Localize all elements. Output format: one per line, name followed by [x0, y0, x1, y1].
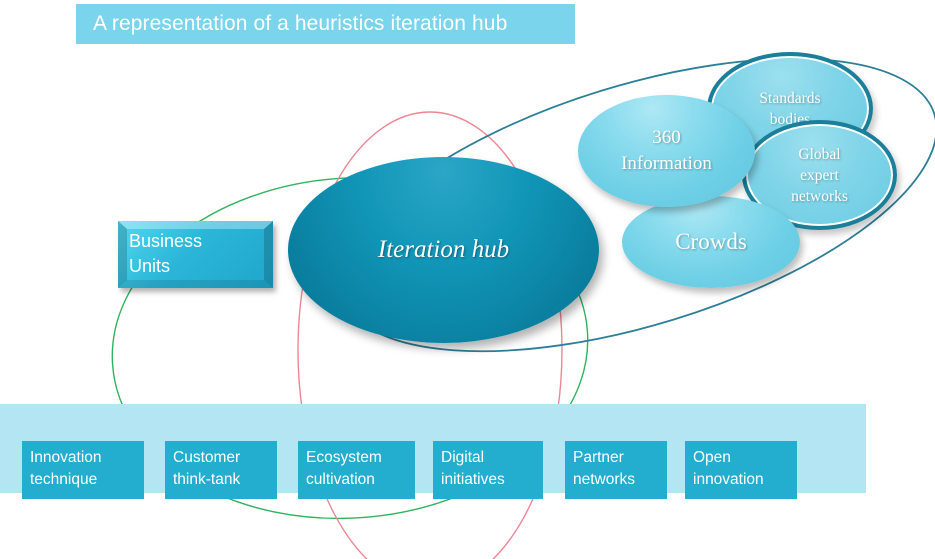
satellite-360-information-label: 360 Information [621, 125, 712, 177]
satellite-global-expert-networks-label: Global expert networks [791, 144, 848, 207]
bottom-box-ecosystem-cultivation[interactable]: Ecosystem cultivation [298, 441, 415, 499]
satellite-360-information[interactable]: 360 Information [578, 95, 755, 207]
page-title: A representation of a heuristics iterati… [93, 12, 507, 36]
satellite-crowds-label: Crowds [675, 228, 747, 256]
business-units-node[interactable]: Business Units [118, 221, 273, 288]
diagram-canvas: A representation of a heuristics iterati… [0, 0, 935, 559]
business-units-label: Business Units [118, 221, 273, 279]
title-banner: A representation of a heuristics iterati… [76, 4, 575, 44]
bottom-box-partner-networks[interactable]: Partner networks [565, 441, 667, 499]
bottom-box-open-innovation[interactable]: Open innovation [685, 441, 797, 499]
satellite-crowds[interactable]: Crowds [622, 196, 800, 288]
iteration-hub-node[interactable]: Iteration hub [288, 157, 599, 343]
bottom-box-innovation-technique[interactable]: Innovation technique [22, 441, 144, 499]
bottom-box-customer-think-tank[interactable]: Customer think-tank [165, 441, 277, 499]
iteration-hub-label: Iteration hub [378, 236, 509, 264]
bottom-box-digital-initiatives[interactable]: Digital initiatives [433, 441, 543, 499]
